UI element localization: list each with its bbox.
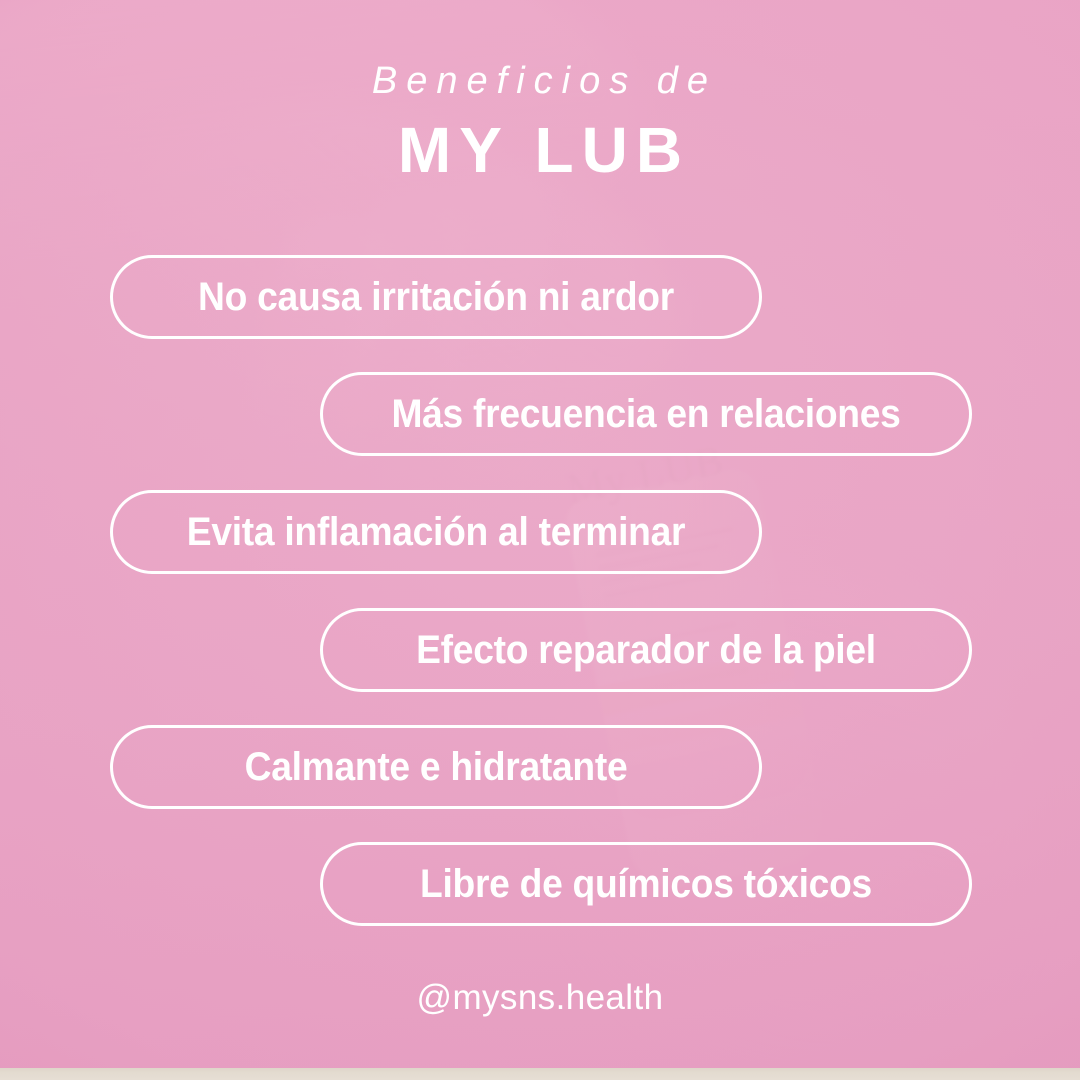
benefit-pill-label: Calmante e hidratante xyxy=(136,745,737,790)
benefit-pill-4: Efecto reparador de la piel xyxy=(320,608,972,692)
benefit-pill-label: Libre de químicos tóxicos xyxy=(346,862,947,907)
page-title: MY LUB xyxy=(0,118,1080,182)
benefit-pill-label: No causa irritación ni ardor xyxy=(136,275,737,320)
social-handle: @mysns.health xyxy=(0,978,1080,1018)
benefit-pill-label: Efecto reparador de la piel xyxy=(346,628,947,673)
title-kicker: Beneficios de xyxy=(0,62,1080,100)
title-block: Beneficios de MY LUB xyxy=(0,62,1080,182)
benefit-pill-5: Calmante e hidratante xyxy=(110,725,762,809)
benefit-pill-label: Más frecuencia en relaciones xyxy=(346,392,947,437)
content-layer: Beneficios de MY LUB No causa irritación… xyxy=(0,0,1080,1080)
bottom-strip xyxy=(0,1068,1080,1080)
social-post-canvas: My LUB Beneficios de MY LUB No causa irr… xyxy=(0,0,1080,1080)
benefit-pill-label: Evita inflamación al terminar xyxy=(136,510,737,555)
benefit-pill-1: No causa irritación ni ardor xyxy=(110,255,762,339)
benefit-pill-2: Más frecuencia en relaciones xyxy=(320,372,972,456)
benefit-pill-3: Evita inflamación al terminar xyxy=(110,490,762,574)
benefit-pill-6: Libre de químicos tóxicos xyxy=(320,842,972,926)
